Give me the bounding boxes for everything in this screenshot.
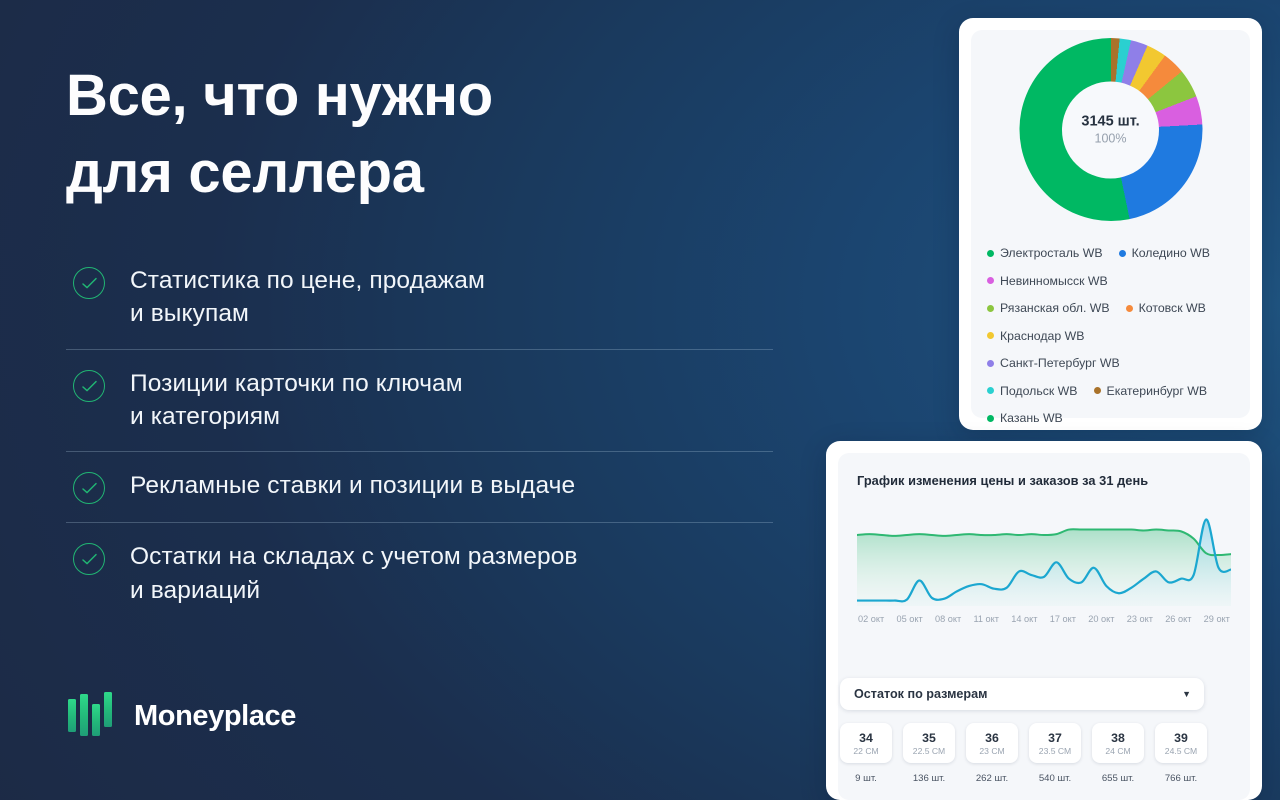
check-circle-icon (73, 370, 105, 402)
feature-label: Статистика по цене, продажам и выкупам (130, 264, 485, 331)
feature-item: Позиции карточки по ключам и категориям (66, 349, 773, 452)
x-axis-tick: 29 окт (1204, 614, 1230, 624)
size-quantity: 655 шт. (1102, 773, 1134, 784)
legend-label: Краснодар WB (1000, 329, 1084, 343)
size-chip-group: 3824 СМ655 шт. (1092, 723, 1144, 784)
x-axis-tick: 02 окт (858, 614, 884, 624)
size-number: 34 (859, 731, 873, 745)
legend-item[interactable]: Казань WB (987, 411, 1063, 425)
legend-item[interactable]: Котовск WB (1126, 301, 1206, 315)
legend-row: Электросталь WBКоледино WB (987, 246, 1236, 260)
x-axis-tick: 05 окт (896, 614, 922, 624)
size-chip-list: 3422 СМ9 шт.3522.5 СМ136 шт.3623 СМ262 ш… (840, 723, 1207, 784)
page-title: Все, что нужно для селлера (66, 58, 800, 211)
donut-legend: Электросталь WBКоледино WBНевинномысск W… (971, 236, 1250, 425)
legend-row: Подольск WBЕкатеринбург WB (987, 384, 1236, 398)
line-area-plot (857, 511, 1231, 608)
legend-item[interactable]: Санкт-Петербург WB (987, 356, 1120, 370)
x-axis-tick: 23 окт (1127, 614, 1153, 624)
legend-color-dot (1126, 305, 1133, 312)
legend-color-dot (1094, 387, 1101, 394)
legend-color-dot (987, 332, 994, 339)
size-chip[interactable]: 3522.5 СМ (903, 723, 955, 763)
legend-row: Казань WB (987, 411, 1236, 425)
legend-label: Коледино WB (1132, 246, 1210, 260)
size-quantity: 766 шт. (1165, 773, 1197, 784)
legend-label: Котовск WB (1139, 301, 1206, 315)
size-chip[interactable]: 3824 СМ (1092, 723, 1144, 763)
size-cm: 23.5 СМ (1039, 746, 1071, 756)
x-axis-tick: 11 окт (973, 614, 999, 624)
donut-center: 3145 шт. 100% (1062, 81, 1159, 178)
size-chip[interactable]: 3924.5 СМ (1155, 723, 1207, 763)
size-quantity: 540 шт. (1039, 773, 1071, 784)
brand-logo: Moneyplace (67, 692, 296, 740)
size-quantity: 136 шт. (913, 773, 945, 784)
legend-row: Санкт-Петербург WB (987, 356, 1236, 370)
check-circle-icon (73, 472, 105, 504)
feature-label: Остатки на складах с учетом размеров и в… (130, 540, 578, 607)
size-number: 36 (985, 731, 999, 745)
chart-title: График изменения цены и заказов за 31 де… (857, 473, 1231, 488)
legend-color-dot (987, 250, 994, 257)
legend-label: Электросталь WB (1000, 246, 1103, 260)
size-cm: 23 СМ (979, 746, 1004, 756)
x-axis-tick: 08 окт (935, 614, 961, 624)
size-chip-group: 3522.5 СМ136 шт. (903, 723, 955, 784)
size-number: 38 (1111, 731, 1125, 745)
feature-item: Остатки на складах с учетом размеров и в… (66, 522, 773, 625)
size-number: 37 (1048, 731, 1062, 745)
legend-label: Рязанская обл. WB (1000, 301, 1110, 315)
feature-label: Рекламные ставки и позиции в выдаче (130, 469, 575, 502)
donut-ring: 3145 шт. 100% (1019, 38, 1202, 221)
hero-panel: Все, что нужно для селлера Статистика по… (0, 0, 800, 800)
legend-label: Санкт-Петербург WB (1000, 356, 1120, 370)
legend-item[interactable]: Подольск WB (987, 384, 1078, 398)
price-orders-panel: График изменения цены и заказов за 31 де… (838, 453, 1250, 800)
legend-color-dot (987, 415, 994, 422)
legend-item[interactable]: Коледино WB (1119, 246, 1210, 260)
chart-x-axis: 02 окт05 окт08 окт11 окт14 окт17 окт20 о… (857, 614, 1231, 624)
donut-chart: 3145 шт. 100% (971, 30, 1250, 236)
legend-item[interactable]: Краснодар WB (987, 329, 1084, 343)
legend-item[interactable]: Электросталь WB (987, 246, 1103, 260)
x-axis-tick: 14 окт (1011, 614, 1037, 624)
size-chip-group: 3422 СМ9 шт. (840, 723, 892, 784)
plot-svg (857, 511, 1231, 608)
size-cm: 24 СМ (1105, 746, 1130, 756)
size-chip[interactable]: 3422 СМ (840, 723, 892, 763)
x-axis-tick: 17 окт (1050, 614, 1076, 624)
warehouse-stock-card: 3145 шт. 100% Электросталь WBКоледино WB… (959, 18, 1262, 430)
legend-label: Казань WB (1000, 411, 1063, 425)
legend-item[interactable]: Екатеринбург WB (1094, 384, 1208, 398)
legend-row: Рязанская обл. WBКотовск WB (987, 301, 1236, 315)
x-axis-tick: 20 окт (1088, 614, 1114, 624)
warehouse-stock-panel: 3145 шт. 100% Электросталь WBКоледино WB… (971, 30, 1250, 418)
check-circle-icon (73, 543, 105, 575)
legend-item[interactable]: Невинномысск WB (987, 274, 1108, 288)
size-quantity: 262 шт. (976, 773, 1008, 784)
chevron-down-icon: ▼ (1182, 689, 1191, 699)
feature-item: Статистика по цене, продажам и выкупам (66, 247, 773, 349)
size-cm: 22.5 СМ (913, 746, 945, 756)
legend-color-dot (987, 277, 994, 284)
size-chip-group: 3623 СМ262 шт. (966, 723, 1018, 784)
size-chip[interactable]: 3623 СМ (966, 723, 1018, 763)
feature-label: Позиции карточки по ключам и категориям (130, 367, 463, 434)
size-number: 35 (922, 731, 936, 745)
legend-color-dot (1119, 250, 1126, 257)
brand-name: Moneyplace (134, 700, 296, 733)
select-value: Остаток по размерам (854, 687, 987, 701)
legend-label: Екатеринбург WB (1107, 384, 1208, 398)
x-axis-tick: 26 окт (1165, 614, 1191, 624)
chart-area: График изменения цены и заказов за 31 де… (838, 453, 1250, 668)
size-chip[interactable]: 3723.5 СМ (1029, 723, 1081, 763)
feature-list: Статистика по цене, продажам и выкупамПо… (66, 247, 773, 625)
price-orders-card: График изменения цены и заказов за 31 де… (826, 441, 1262, 800)
legend-color-dot (987, 360, 994, 367)
size-cm: 22 СМ (853, 746, 878, 756)
size-chip-group: 3924.5 СМ766 шт. (1155, 723, 1207, 784)
size-cm: 24.5 СМ (1165, 746, 1197, 756)
feature-item: Рекламные ставки и позиции в выдаче (66, 451, 773, 522)
legend-label: Невинномысск WB (1000, 274, 1108, 288)
legend-label: Подольск WB (1000, 384, 1078, 398)
donut-percent-value: 100% (1095, 132, 1127, 146)
size-number: 39 (1174, 731, 1188, 745)
check-circle-icon (73, 267, 105, 299)
size-quantity: 9 шт. (855, 773, 877, 784)
legend-color-dot (987, 305, 994, 312)
size-chip-group: 3723.5 СМ540 шт. (1029, 723, 1081, 784)
legend-color-dot (987, 387, 994, 394)
legend-item[interactable]: Рязанская обл. WB (987, 301, 1110, 315)
legend-row: Краснодар WB (987, 329, 1236, 343)
stock-by-size-select[interactable]: Остаток по размерам ▼ (840, 678, 1204, 710)
bar-chart-logo-icon (67, 692, 115, 740)
donut-total-value: 3145 шт. (1081, 114, 1139, 130)
legend-row: Невинномысск WB (987, 274, 1236, 288)
